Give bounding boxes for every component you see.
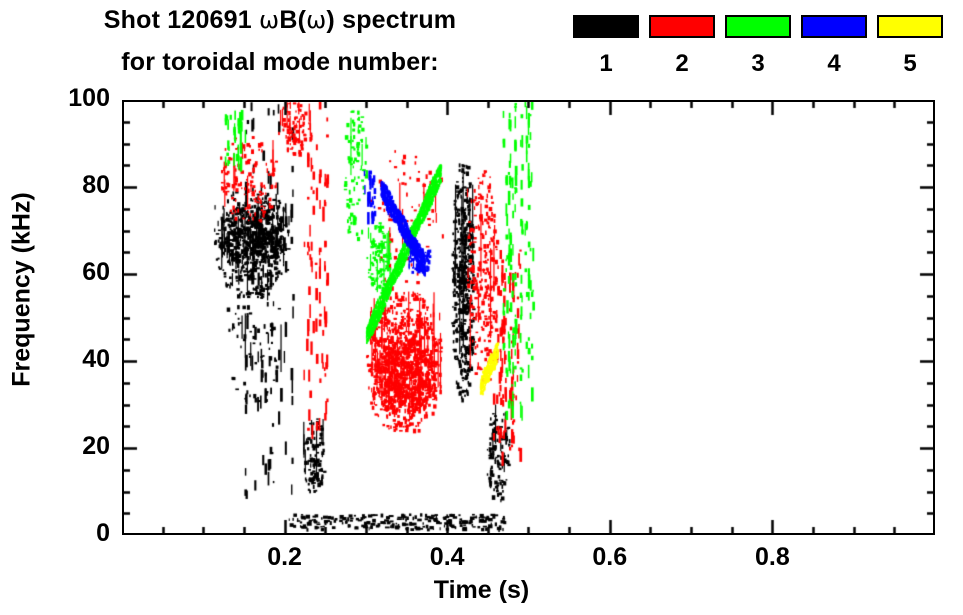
legend-swatch-mode-3 bbox=[725, 15, 791, 38]
plot-area bbox=[122, 100, 935, 535]
y-tick-label-4: 80 bbox=[40, 171, 110, 200]
y-tick-label-0: 0 bbox=[40, 519, 110, 548]
x-tick-label-2: 0.6 bbox=[565, 543, 655, 572]
legend-label-mode-2: 2 bbox=[646, 50, 718, 78]
legend-swatch-mode-4 bbox=[801, 15, 867, 38]
legend-item-mode-1: 1 bbox=[570, 0, 642, 92]
legend-swatch-mode-2 bbox=[649, 15, 715, 38]
legend-label-mode-4: 4 bbox=[798, 50, 870, 78]
omega-symbol-1: ω bbox=[259, 6, 279, 34]
legend-swatch-mode-5 bbox=[877, 15, 943, 38]
x-tick-label-1: 0.4 bbox=[402, 543, 492, 572]
spectrogram-plot bbox=[122, 100, 935, 535]
legend-swatch-mode-1 bbox=[573, 15, 639, 38]
y-tick-label-5: 100 bbox=[40, 84, 110, 113]
y-tick-label-2: 40 bbox=[40, 345, 110, 374]
y-axis-label: Frequency (kHz) bbox=[8, 90, 37, 490]
title-shot-text: Shot 120691 bbox=[104, 6, 259, 34]
mode-number-legend: 12345 bbox=[570, 0, 963, 92]
legend-item-mode-2: 2 bbox=[646, 0, 718, 92]
x-axis-label: Time (s) bbox=[0, 576, 963, 605]
x-tick-label-0: 0.2 bbox=[240, 543, 330, 572]
legend-item-mode-5: 5 bbox=[874, 0, 946, 92]
figure-title: Shot 120691 ωB(ω) spectrum for toroidal … bbox=[0, 0, 560, 92]
title-line-2: for toroidal mode number: bbox=[0, 48, 560, 77]
title-line-1: Shot 120691 ωB(ω) spectrum bbox=[0, 6, 560, 35]
y-tick-label-3: 60 bbox=[40, 258, 110, 287]
title-spectrum-text: ) spectrum bbox=[326, 6, 456, 34]
spectrogram-figure: Shot 120691 ωB(ω) spectrum for toroidal … bbox=[0, 0, 963, 615]
omega-symbol-2: ω bbox=[306, 6, 326, 34]
legend-item-mode-4: 4 bbox=[798, 0, 870, 92]
y-tick-label-1: 20 bbox=[40, 432, 110, 461]
x-tick-label-3: 0.8 bbox=[727, 543, 817, 572]
legend-label-mode-3: 3 bbox=[722, 50, 794, 78]
title-b-text: B( bbox=[279, 6, 306, 34]
legend-label-mode-1: 1 bbox=[570, 50, 642, 78]
legend-item-mode-3: 3 bbox=[722, 0, 794, 92]
legend-label-mode-5: 5 bbox=[874, 50, 946, 78]
